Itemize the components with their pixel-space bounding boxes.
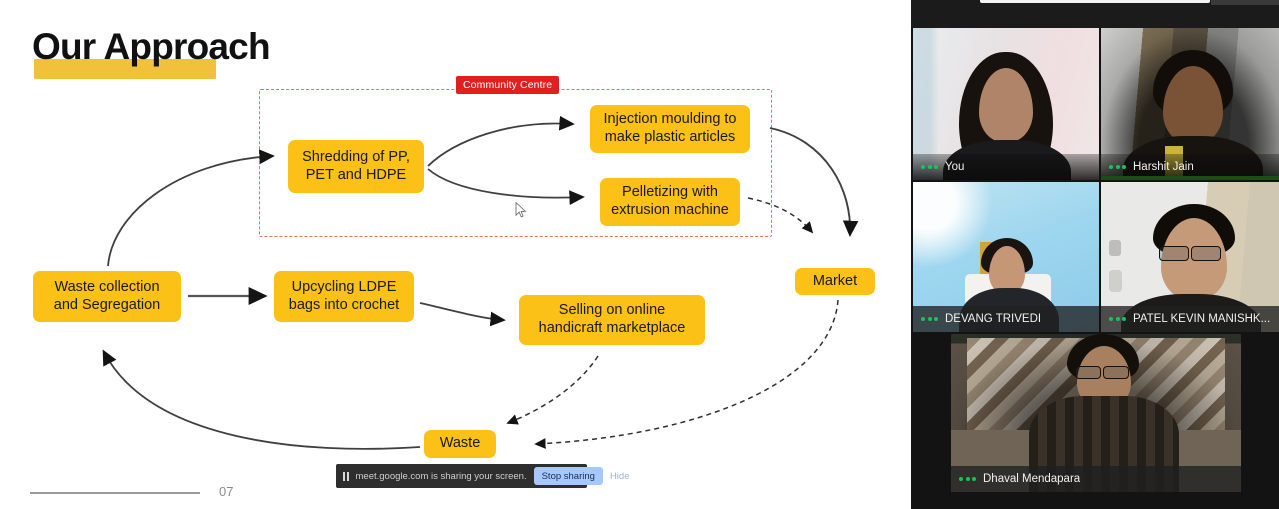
video-tile-you[interactable]: You	[913, 28, 1099, 180]
mic-activity-icon	[921, 165, 938, 169]
wall-fixture	[1109, 240, 1121, 256]
panel-top-white-strip	[980, 0, 1210, 3]
video-tile-devang-trivedi[interactable]: DEVANG TRIVEDI	[913, 182, 1099, 332]
screen: Our Approach Community Centre	[0, 0, 1279, 509]
video-tile-harshit-jain[interactable]: Harshit Jain	[1101, 28, 1279, 180]
tile-name-bar: You	[913, 154, 1099, 180]
participant-name: Dhaval Mendapara	[983, 473, 1080, 485]
node-pelletizing: Pelletizing with extrusion machine	[600, 178, 740, 226]
node-upcycling: Upcycling LDPE bags into crochet	[274, 271, 414, 322]
node-collection: Waste collection and Segregation	[33, 271, 181, 322]
tile-name-bar: DEVANG TRIVEDI	[913, 306, 1099, 332]
page-number: 07	[219, 484, 233, 499]
tile-name-bar: Dhaval Mendapara	[951, 466, 1241, 492]
video-tile-dhaval-mendapara[interactable]: Dhaval Mendapara	[951, 334, 1241, 492]
footer-rule	[30, 492, 200, 494]
pause-icon[interactable]	[343, 472, 349, 481]
hide-sharing-button[interactable]: Hide	[610, 471, 630, 482]
node-waste: Waste	[424, 430, 496, 458]
screen-share-bar: meet.google.com is sharing your screen. …	[336, 464, 587, 488]
eyeglasses-icon	[1159, 246, 1189, 261]
node-shredding: Shredding of PP, PET and HDPE	[288, 140, 424, 193]
mic-activity-icon	[1109, 165, 1126, 169]
node-selling: Selling on online handicraft marketplace	[519, 295, 705, 345]
eyeglasses-icon-right	[1191, 246, 1221, 261]
panel-top-right-strip	[1211, 0, 1279, 5]
video-tile-patel-kevin[interactable]: PATEL KEVIN MANISHK...	[1101, 182, 1279, 332]
eyeglasses-icon	[1075, 366, 1101, 379]
wall-fixture-2	[1109, 270, 1122, 292]
participant-name: You	[945, 161, 964, 173]
share-status-text: meet.google.com is sharing your screen.	[356, 471, 527, 482]
participant-name: DEVANG TRIVEDI	[945, 313, 1041, 325]
stop-sharing-button[interactable]: Stop sharing	[534, 467, 603, 485]
tile-name-bar: PATEL KEVIN MANISHK...	[1101, 306, 1279, 332]
active-speaker-indicator	[1101, 176, 1279, 180]
participant-name: PATEL KEVIN MANISHK...	[1133, 313, 1270, 325]
mic-activity-icon	[959, 477, 976, 481]
node-market: Market	[795, 268, 875, 295]
shared-slide: Our Approach Community Centre	[0, 0, 911, 509]
participant-name: Harshit Jain	[1133, 161, 1194, 173]
mic-activity-icon	[1109, 317, 1126, 321]
meet-participant-panel: You Harshit Jain	[911, 0, 1279, 509]
mic-activity-icon	[921, 317, 938, 321]
node-injection: Injection moulding to make plastic artic…	[590, 105, 750, 153]
mouse-cursor-icon	[515, 202, 527, 218]
eyeglasses-icon-right	[1103, 366, 1129, 379]
